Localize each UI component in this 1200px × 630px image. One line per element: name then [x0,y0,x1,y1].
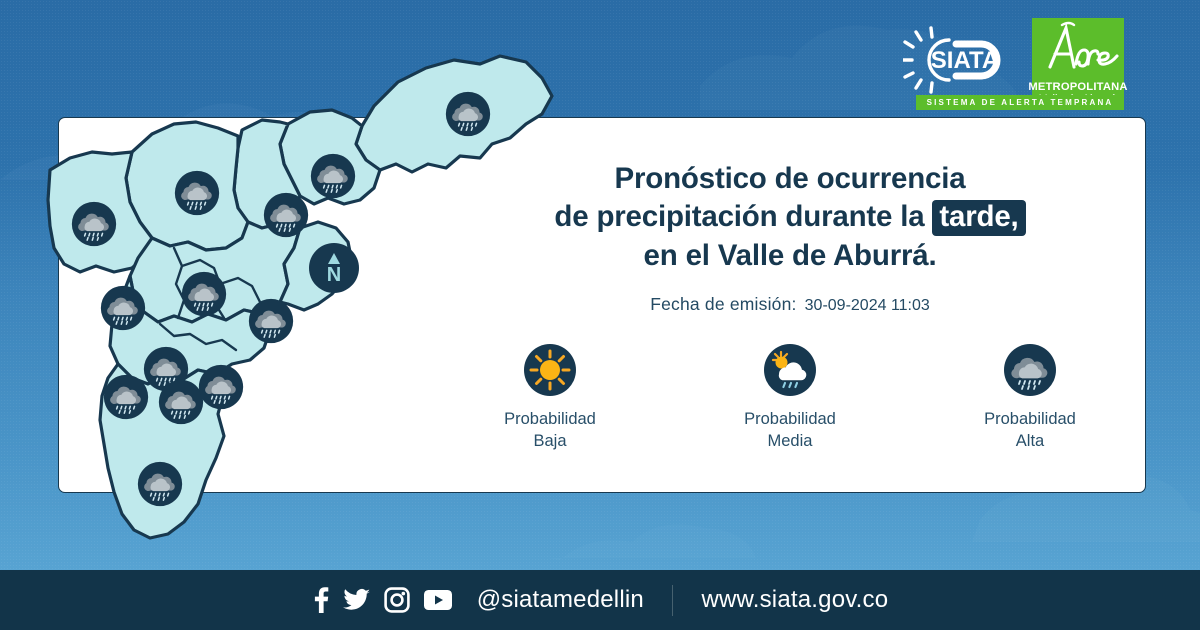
legend-alta-line2: Alta [955,430,1105,452]
website-url[interactable]: www.siata.gov.co [701,586,888,614]
tagline-bar: SISTEMA DE ALERTA TEMPRANA [916,95,1124,110]
sun-icon [475,343,625,397]
headline-line-3: en el Valle de Aburrá. [470,237,1110,275]
sun-rain-cloud-icon [715,343,865,397]
legend-media-line1: Probabilidad [715,408,865,430]
forecast-panel: Pronóstico de ocurrencia de precipitació… [470,160,1110,453]
area-line-1: METROPOLITANA [1028,81,1127,94]
emission-date: Fecha de emisión: 30-09-2024 11:03 [470,294,1110,315]
marker-sabaneta[interactable] [103,374,149,420]
marker-san-jeronimo[interactable] [100,285,146,331]
marker-amaga[interactable] [137,461,183,507]
area-script-logo [1032,20,1124,76]
infographic-root: N Pronóstico de ocurrencia de precipitac… [0,0,1200,630]
probability-legend: Probabilidad Baja [470,343,1110,453]
legend-label-baja: Probabilidad Baja [475,408,625,453]
legend-baja-line2: Baja [475,430,625,452]
emission-date-label: Fecha de emisión: [650,294,796,314]
social-handle[interactable]: @siatamedellin [477,586,644,614]
instagram-icon[interactable] [384,587,410,613]
marker-medellin[interactable] [181,271,227,317]
headline-line-2: de precipitación durante la tarde, [470,198,1110,236]
legend-label-media: Probabilidad Media [715,408,865,453]
youtube-icon[interactable] [423,589,453,611]
page-title: Pronóstico de ocurrencia de precipitació… [470,160,1110,275]
headline-line-1: Pronóstico de ocurrencia [470,160,1110,198]
twitter-icon[interactable] [343,588,371,612]
legend-baja-line1: Probabilidad [475,408,625,430]
tagline-text: SISTEMA DE ALERTA TEMPRANA [927,98,1114,107]
compass-north-icon: N [308,242,360,294]
emission-date-value: 30-09-2024 11:03 [805,297,930,314]
legend-item-baja: Probabilidad Baja [475,343,625,453]
marker-san-pedro[interactable] [71,201,117,247]
legend-alta-line1: Probabilidad [955,408,1105,430]
legend-item-alta: Probabilidad Alta [955,343,1105,453]
marker-bello[interactable] [174,170,220,216]
heavy-rain-cloud-icon [955,343,1105,397]
social-icons [312,586,453,614]
compass-label: N [327,264,341,286]
legend-media-line2: Media [715,430,865,452]
footer-divider [672,585,674,616]
facebook-icon[interactable] [312,586,330,614]
siata-wordmark: SIATA [931,47,999,74]
siata-logo: SIATA [903,26,1023,103]
headline-highlight-tarde: tarde, [932,200,1025,235]
footer-bar: @siatamedellin www.siata.gov.co [0,570,1200,630]
marker-girardota[interactable] [310,153,356,199]
marker-envigado[interactable] [248,298,294,344]
headline-line-2-text: de precipitación durante la [554,200,924,233]
marker-barbosa[interactable] [445,91,491,137]
marker-copacabana[interactable] [263,192,309,238]
legend-item-media: Probabilidad Media [715,343,865,453]
legend-label-alta: Probabilidad Alta [955,408,1105,453]
marker-caldas[interactable] [198,364,244,410]
